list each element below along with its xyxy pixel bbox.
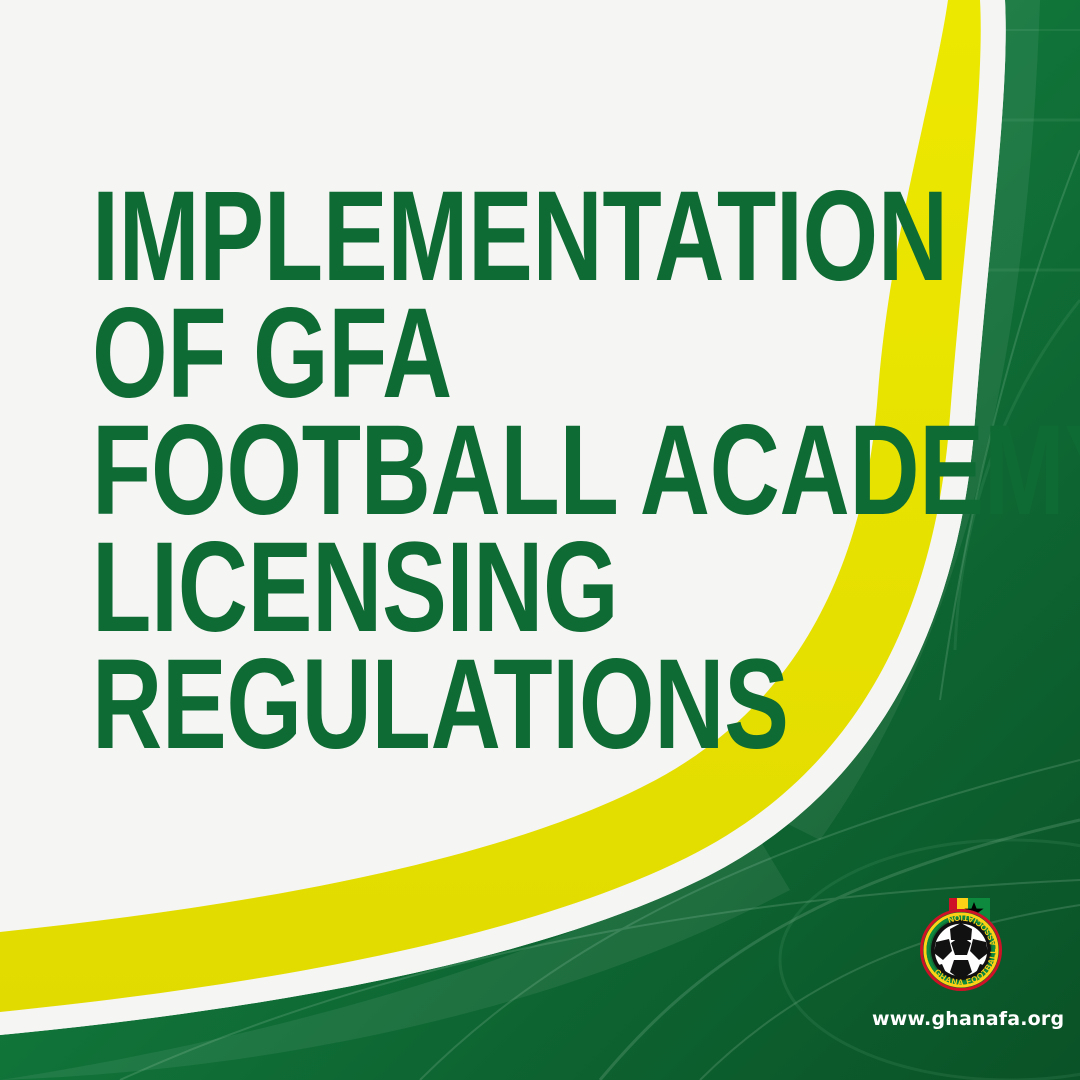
headline-line-5: REGULATIONS: [92, 646, 761, 763]
headline-line-3: FOOTBALL ACADEMY: [92, 412, 761, 529]
website-url[interactable]: www.ghanafa.org: [872, 1008, 1048, 1030]
brand-block: GHANA FOOTBALL ASSOCIATION www.ghanafa.o…: [872, 872, 1048, 1050]
headline-line-1: IMPLEMENTATION: [92, 178, 761, 295]
gfa-crest-icon: GHANA FOOTBALL ASSOCIATION: [902, 872, 1020, 996]
headline-block: IMPLEMENTATION OF GFA FOOTBALL ACADEMY L…: [92, 178, 972, 763]
headline-line-2: OF GFA: [92, 295, 761, 412]
headline-line-4: LICENSING: [92, 529, 761, 646]
poster-canvas: IMPLEMENTATION OF GFA FOOTBALL ACADEMY L…: [0, 0, 1080, 1080]
